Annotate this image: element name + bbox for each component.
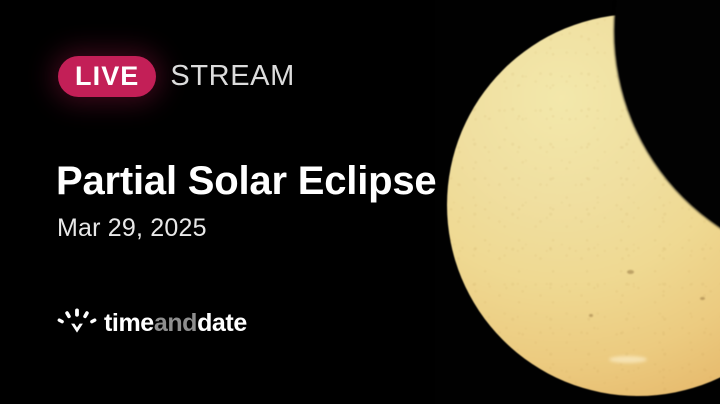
- logo-word-date: date: [197, 309, 247, 337]
- live-stream-row: LIVE STREAM: [58, 56, 295, 97]
- live-badge: LIVE: [58, 56, 156, 97]
- text-overlay: LIVE STREAM Partial Solar Eclipse Mar 29…: [0, 0, 720, 404]
- logo-word-time: time: [104, 309, 154, 337]
- timeanddate-wordmark: timeanddate: [104, 311, 247, 336]
- live-stream-banner: LIVE STREAM Partial Solar Eclipse Mar 29…: [0, 0, 720, 404]
- event-title: Partial Solar Eclipse: [56, 161, 436, 201]
- stream-label: STREAM: [170, 62, 294, 91]
- logo-word-and: and: [154, 309, 197, 337]
- timeanddate-sun-icon: [57, 308, 97, 338]
- timeanddate-logo: timeanddate: [57, 308, 247, 338]
- event-date: Mar 29, 2025: [57, 216, 207, 241]
